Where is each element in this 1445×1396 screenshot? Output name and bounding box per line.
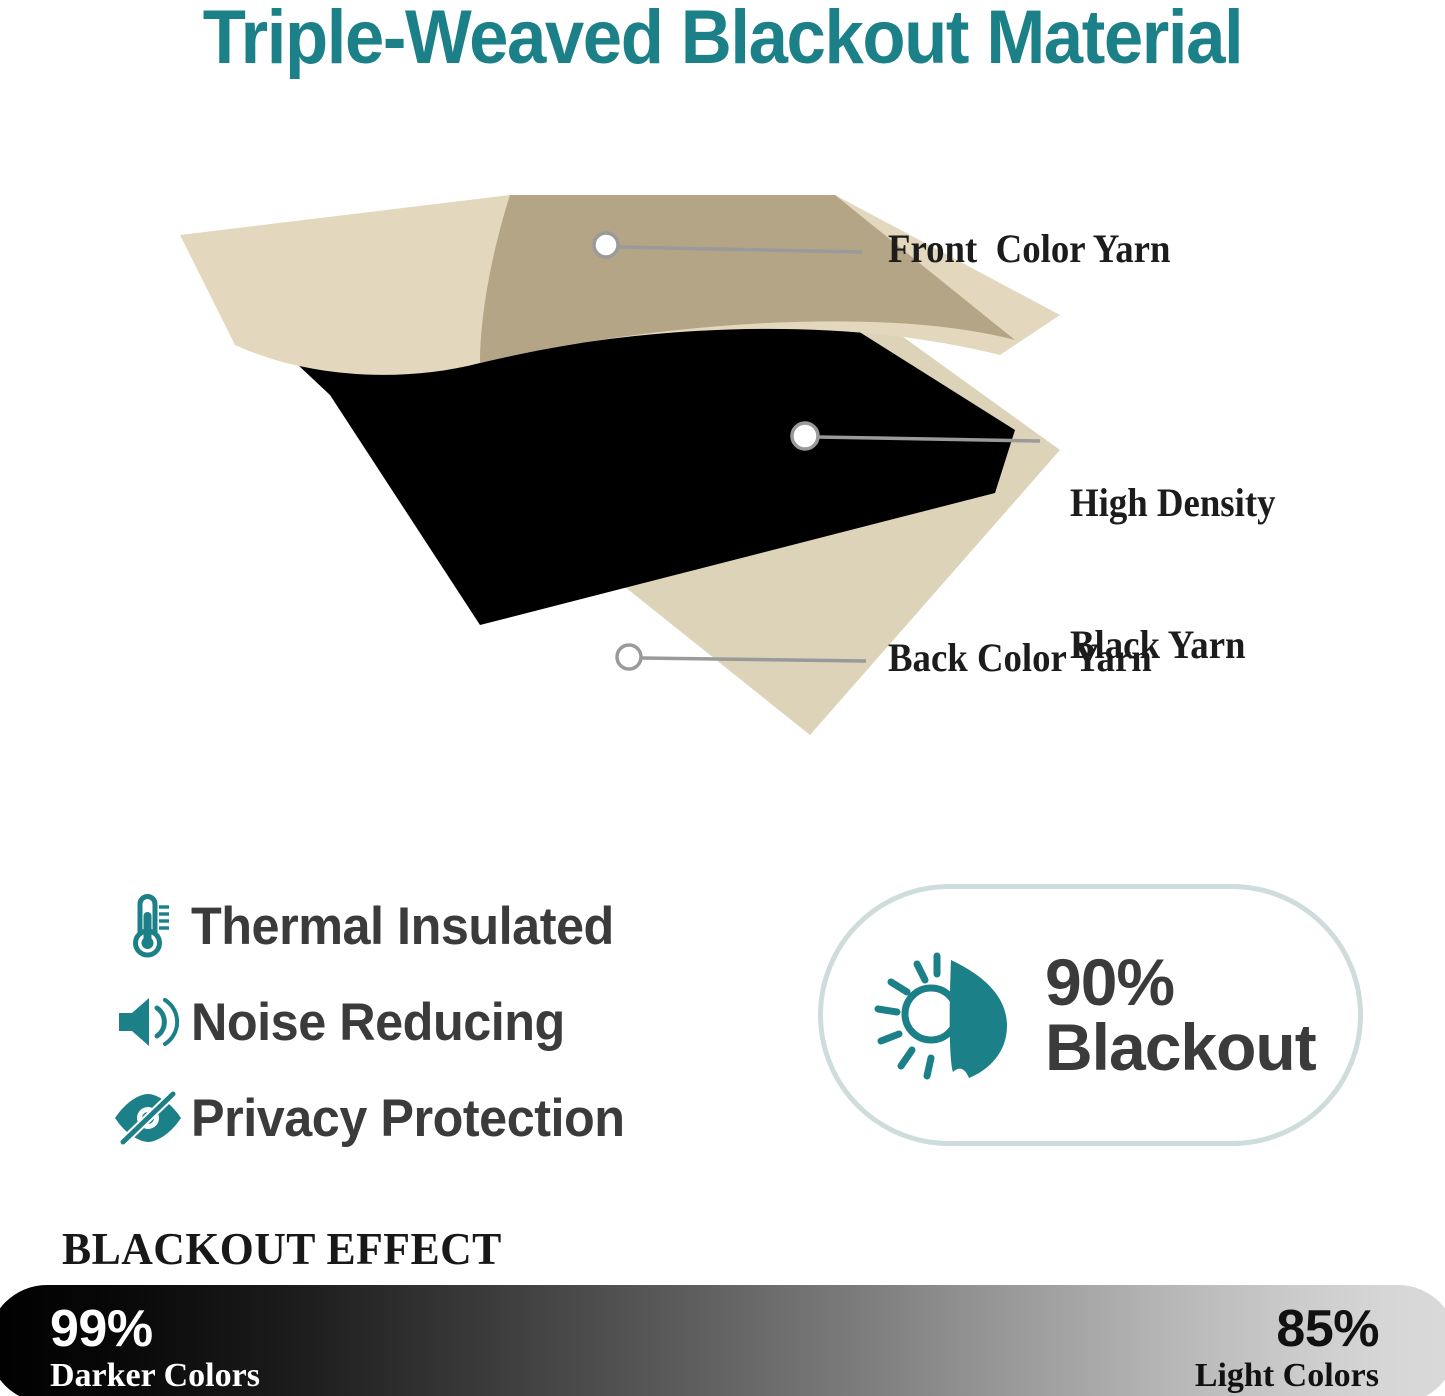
darker-colors-stat: 99% Darker Colors bbox=[50, 1303, 260, 1393]
callout-line-front bbox=[618, 247, 862, 252]
feature-label: Noise Reducing bbox=[191, 992, 565, 1053]
thermometer-icon bbox=[105, 890, 191, 962]
light-colors-percent: 85% bbox=[1195, 1303, 1379, 1355]
callout-dot-front bbox=[594, 233, 618, 257]
callout-label-line-1: High Density bbox=[1070, 479, 1275, 526]
darker-colors-percent: 99% bbox=[50, 1303, 260, 1355]
fabric-layers-diagram: Front Color Yarn High Density Black Yarn… bbox=[0, 0, 1445, 620]
feature-item-noise-reducing: Noise Reducing bbox=[105, 974, 765, 1070]
badge-text-block: 90% Blackout bbox=[1045, 950, 1316, 1079]
darker-colors-label: Darker Colors bbox=[50, 1359, 260, 1393]
speaker-sound-icon bbox=[105, 992, 191, 1052]
light-colors-label: Light Colors bbox=[1195, 1359, 1379, 1393]
light-colors-stat: 85% Light Colors bbox=[1195, 1303, 1379, 1393]
blackout-percentage-badge: 90% Blackout bbox=[818, 884, 1363, 1146]
callout-label-back-color-yarn: Back Color Yarn bbox=[888, 634, 1152, 681]
infographic-page: Triple-Weaved Blackout Material Fro bbox=[0, 0, 1445, 1396]
feature-item-privacy-protection: Privacy Protection bbox=[105, 1070, 765, 1166]
badge-percent: 90% bbox=[1045, 950, 1316, 1015]
blackout-effect-gradient-bar: 99% Darker Colors 85% Light Colors bbox=[0, 1285, 1445, 1396]
feature-label: Thermal Insulated bbox=[191, 896, 614, 957]
callout-line-back bbox=[641, 658, 866, 661]
feature-label: Privacy Protection bbox=[191, 1088, 625, 1149]
callout-label-high-density-black-yarn: High Density Black Yarn bbox=[1070, 385, 1275, 763]
sun-blocked-by-curtain-icon bbox=[823, 940, 1045, 1090]
feature-list: Thermal Insulated Noise Reducing bbox=[105, 878, 765, 1166]
blackout-effect-heading: BLACKOUT EFFECT bbox=[62, 1222, 502, 1275]
callout-dot-back bbox=[617, 645, 641, 669]
feature-item-thermal-insulated: Thermal Insulated bbox=[105, 878, 765, 974]
callout-dot-black bbox=[792, 423, 818, 449]
eye-slash-icon bbox=[105, 1090, 191, 1146]
callout-line-black bbox=[818, 437, 1040, 441]
badge-word: Blackout bbox=[1045, 1015, 1316, 1080]
callout-label-front-color-yarn: Front Color Yarn bbox=[888, 225, 1170, 272]
